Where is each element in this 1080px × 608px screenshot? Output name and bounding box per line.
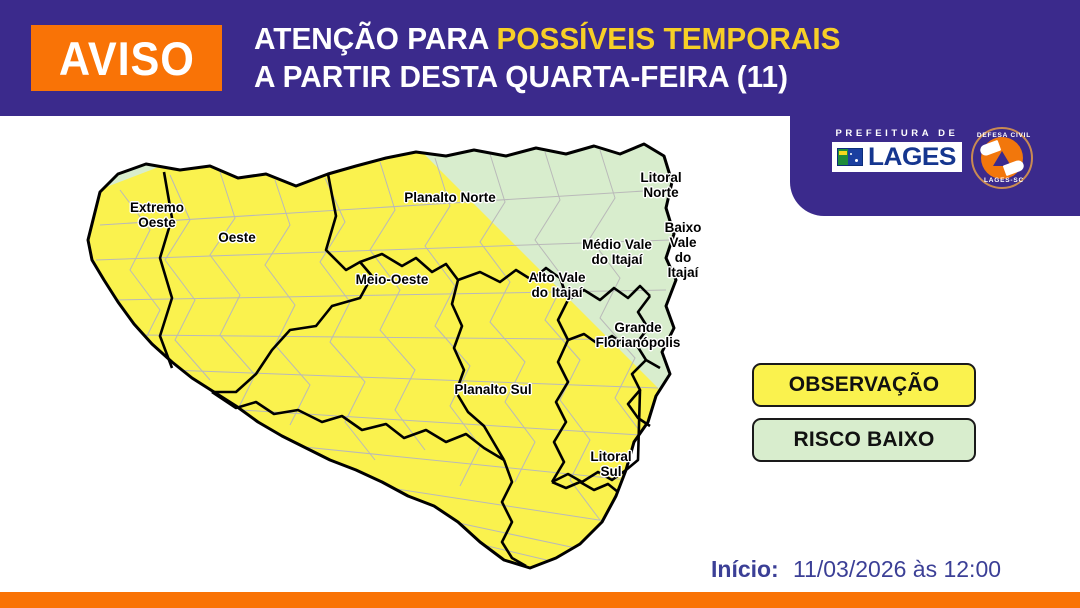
defesa-civil-emblem-icon (981, 137, 1023, 179)
headline-line-2: A PARTIR DESTA QUARTA-FEIRA (11) (254, 58, 763, 96)
headline-line-1-white: ATENÇÃO PARA (254, 21, 496, 56)
aviso-badge: AVISO (31, 25, 222, 91)
prefeitura-kicker: PREFEITURA DE (832, 128, 962, 139)
lages-city-label: LAGES (868, 145, 956, 170)
legend-label-risco-baixo: RISCO BAIXO (793, 428, 934, 452)
aviso-badge-label: AVISO (59, 35, 195, 82)
headline-line-1: ATENÇÃO PARA POSSÍVEIS TEMPORAIS (254, 20, 763, 58)
legend-item-observacao: OBSERVAÇÃO (752, 363, 976, 407)
lages-wordmark: LAGES (832, 142, 962, 172)
alert-infographic: AVISO ATENÇÃO PARA POSSÍVEIS TEMPORAIS A… (0, 0, 1080, 608)
prefeitura-logo: PREFEITURA DE LAGES (832, 128, 962, 172)
validity-period: Início: 11/03/2026 às 12:00 Fim: 12/03/2… (711, 487, 1003, 608)
defesa-civil-bottom-label: LAGES-SC (973, 177, 1035, 184)
map-svg (60, 130, 720, 580)
lages-flag-icon (837, 148, 863, 166)
santa-catarina-map: Extremo Oeste Oeste Meio-Oeste Planalto … (60, 130, 720, 580)
headline-line-1-highlight: POSSÍVEIS TEMPORAIS (496, 21, 840, 56)
defesa-civil-logo: DEFESA CIVIL LAGES-SC (971, 127, 1033, 189)
legend-item-risco-baixo: RISCO BAIXO (752, 418, 976, 462)
period-start-value: 11/03/2026 às 12:00 (793, 553, 1001, 586)
period-start-row: Início: 11/03/2026 às 12:00 (711, 553, 1003, 586)
bottom-accent-bar (0, 592, 1080, 608)
period-start-label: Início: (711, 553, 793, 586)
headline: ATENÇÃO PARA POSSÍVEIS TEMPORAIS A PARTI… (254, 20, 784, 96)
legend-label-observacao: OBSERVAÇÃO (789, 373, 940, 397)
